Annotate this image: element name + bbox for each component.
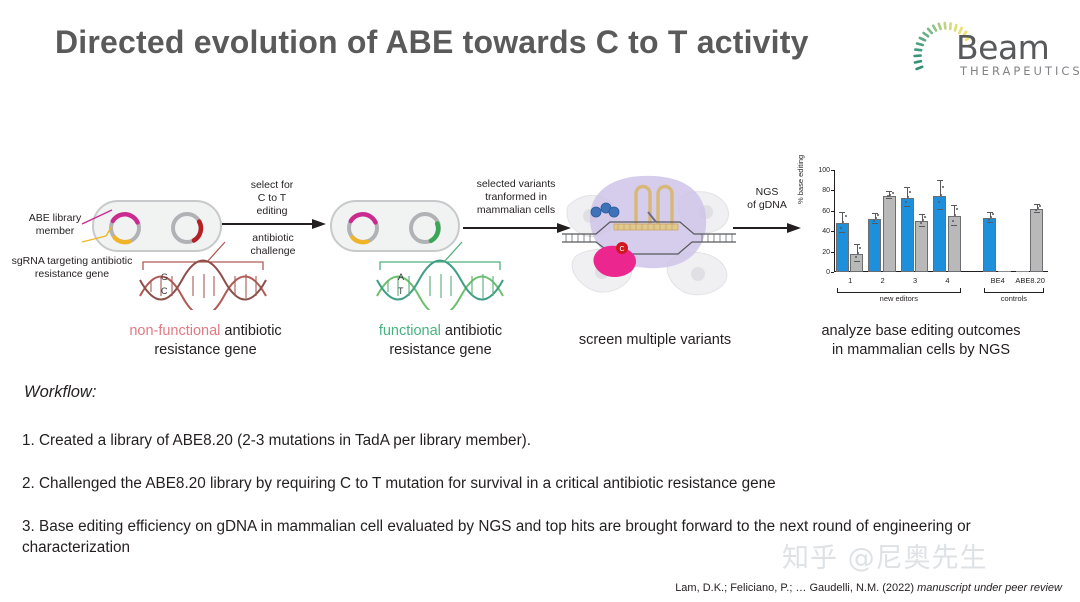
page-title: Directed evolution of ABE towards C to T… [55, 22, 845, 64]
bar-gray-4-errorcap-low [951, 225, 957, 226]
chart-data-point [873, 220, 875, 222]
bar-blue-3-errorcap [904, 187, 910, 188]
chart-data-point [942, 186, 944, 188]
bar-blue-2 [868, 219, 881, 272]
chart-data-point [877, 214, 879, 216]
chart-data-point [956, 208, 958, 210]
chart-y-tick-label: 20 [802, 249, 830, 256]
chart-x-tick-ABE8.20: ABE8.20 [1008, 276, 1053, 285]
bar-blue-BE4 [983, 218, 996, 272]
caption-functional-gene: functional antibiotic resistance gene [348, 322, 533, 360]
caption-nonfunctional-gene: non-functional antibiotic resistance gen… [108, 322, 303, 360]
bar-gray-1-errorcap [854, 244, 860, 245]
chart-data-point [952, 220, 954, 222]
workflow-step-2: 2. Challenged the ABE8.20 library by req… [22, 473, 1042, 494]
chart-x-tick-4: 4 [925, 276, 970, 285]
chart-data-point [990, 216, 992, 218]
bar-blue-1 [836, 223, 849, 272]
chart-y-tick-label: 0 [802, 269, 830, 276]
chart-plot-area [834, 170, 1048, 272]
chart-data-point [992, 213, 994, 215]
svg-text:A: A [398, 272, 404, 282]
svg-text:G: G [161, 272, 168, 282]
arrow-ngs-gdna-icon [733, 222, 801, 236]
chart-data-point [892, 192, 894, 194]
bar-blue-BE4-errorcap-low [987, 222, 993, 223]
citation-authors: Lam, D.K.; Feliciano, P.; … Gaudelli, N.… [675, 582, 917, 594]
bar-blue-ABE8.20-zero [1016, 271, 1029, 273]
chart-data-point [845, 215, 847, 217]
bar-gray-1-errorcap-low [854, 261, 860, 262]
chart-group-bracket [984, 288, 1044, 293]
base-editor-in-cell-illustration: C [560, 172, 740, 312]
arrow1-label-below: antibiotic challenge [238, 232, 308, 258]
bar-gray-3-errorcap-low [919, 226, 925, 227]
bar-gray-2 [883, 196, 896, 273]
svg-text:T: T [398, 286, 404, 296]
chart-y-tick [831, 272, 834, 273]
bar-blue-3 [901, 198, 914, 272]
chart-data-point [907, 196, 909, 198]
bar-gray-3-errorcap [919, 214, 925, 215]
arrow-transform-mammalian-icon [463, 222, 571, 236]
svg-text:C: C [161, 286, 168, 296]
chart-y-tick [831, 170, 834, 171]
chart-data-point [905, 201, 907, 203]
chart-data-point [1035, 209, 1037, 211]
beam-therapeutics-logo: Beam THERAPEUTICS [904, 12, 1052, 84]
base-editing-bar-chart: % base editing 1234BE4ABE8.20 new editor… [800, 168, 1050, 308]
logo-tagline: THERAPEUTICS [960, 64, 1080, 78]
slide-canvas: Directed evolution of ABE towards C to T… [0, 0, 1080, 602]
chart-data-point [857, 252, 859, 254]
chart-y-axis [834, 170, 835, 272]
bar-blue-4-errorcap [937, 180, 943, 181]
chart-data-point [875, 217, 877, 219]
chart-group-bracket [837, 288, 962, 293]
chart-y-axis-label: % base editing [796, 155, 805, 204]
chart-y-tick-label: 80 [802, 187, 830, 194]
chart-y-tick [831, 252, 834, 253]
chart-y-tick-label: 100 [802, 167, 830, 174]
bar-blue-4-errorcap-low [937, 209, 943, 210]
caption-screen-variants: screen multiple variants [548, 331, 762, 350]
logo-wordmark: Beam [956, 28, 1049, 67]
citation: Lam, D.K.; Feliciano, P.; … Gaudelli, N.… [675, 582, 1062, 594]
caption-analyze-outcomes: analyze base editing outcomes in mammali… [790, 322, 1052, 360]
bar-blue-4 [933, 196, 946, 273]
bar-blue-2-errorcap-low [872, 223, 878, 224]
bar-gray-BE4-zero [998, 271, 1011, 273]
arrow2-label-above: selected variants tranformed in mammalia… [460, 178, 572, 217]
bar-gray-1 [850, 254, 863, 272]
bar-gray-4-errorcap [951, 205, 957, 206]
workflow-heading: Workflow: [24, 383, 96, 402]
chart-y-tick [831, 231, 834, 232]
chart-data-point [922, 219, 924, 221]
bar-gray-3 [915, 221, 928, 272]
chart-data-point [859, 247, 861, 249]
bar-gray-ABE8.20 [1030, 209, 1043, 272]
chart-data-point [988, 219, 990, 221]
chart-data-point [855, 256, 857, 258]
bar-blue-3-errorcap-low [904, 206, 910, 207]
arrow3-label-above: NGS of gDNA [736, 186, 798, 212]
arrow1-label-above: select for C to T editing [236, 179, 308, 218]
chart-data-point [924, 216, 926, 218]
workflow-step-1: 1. Created a library of ABE8.20 (2-3 mut… [22, 430, 1022, 451]
chart-data-point [909, 191, 911, 193]
label-abe-library-member: ABE library member [16, 212, 94, 238]
citation-status: manuscript under peer review [917, 582, 1062, 594]
bar-blue-1-errorcap [839, 212, 845, 213]
chart-y-tick-label: 60 [802, 208, 830, 215]
dna-helix-functional-icon: A T [352, 240, 517, 310]
chart-y-tick [831, 190, 834, 191]
chart-data-point [1037, 207, 1039, 209]
workflow-step-3: 3. Base editing efficiency on gDNA in ma… [22, 516, 1052, 558]
chart-y-tick [831, 211, 834, 212]
chart-group-label: controls [984, 294, 1044, 303]
chart-y-tick-label: 40 [802, 228, 830, 235]
bar-gray-2-errorcap-low [886, 198, 892, 199]
chart-group-label: new editors [837, 294, 962, 303]
svg-text:C: C [619, 246, 624, 253]
bar-gray-ABE8.20-errorcap-low [1034, 212, 1040, 213]
chart-data-point [1039, 205, 1041, 207]
bar-blue-1-errorcap-low [839, 232, 845, 233]
arrow-select-for-editing-icon [222, 218, 326, 232]
chart-data-point [940, 194, 942, 196]
chart-data-point [840, 227, 842, 229]
